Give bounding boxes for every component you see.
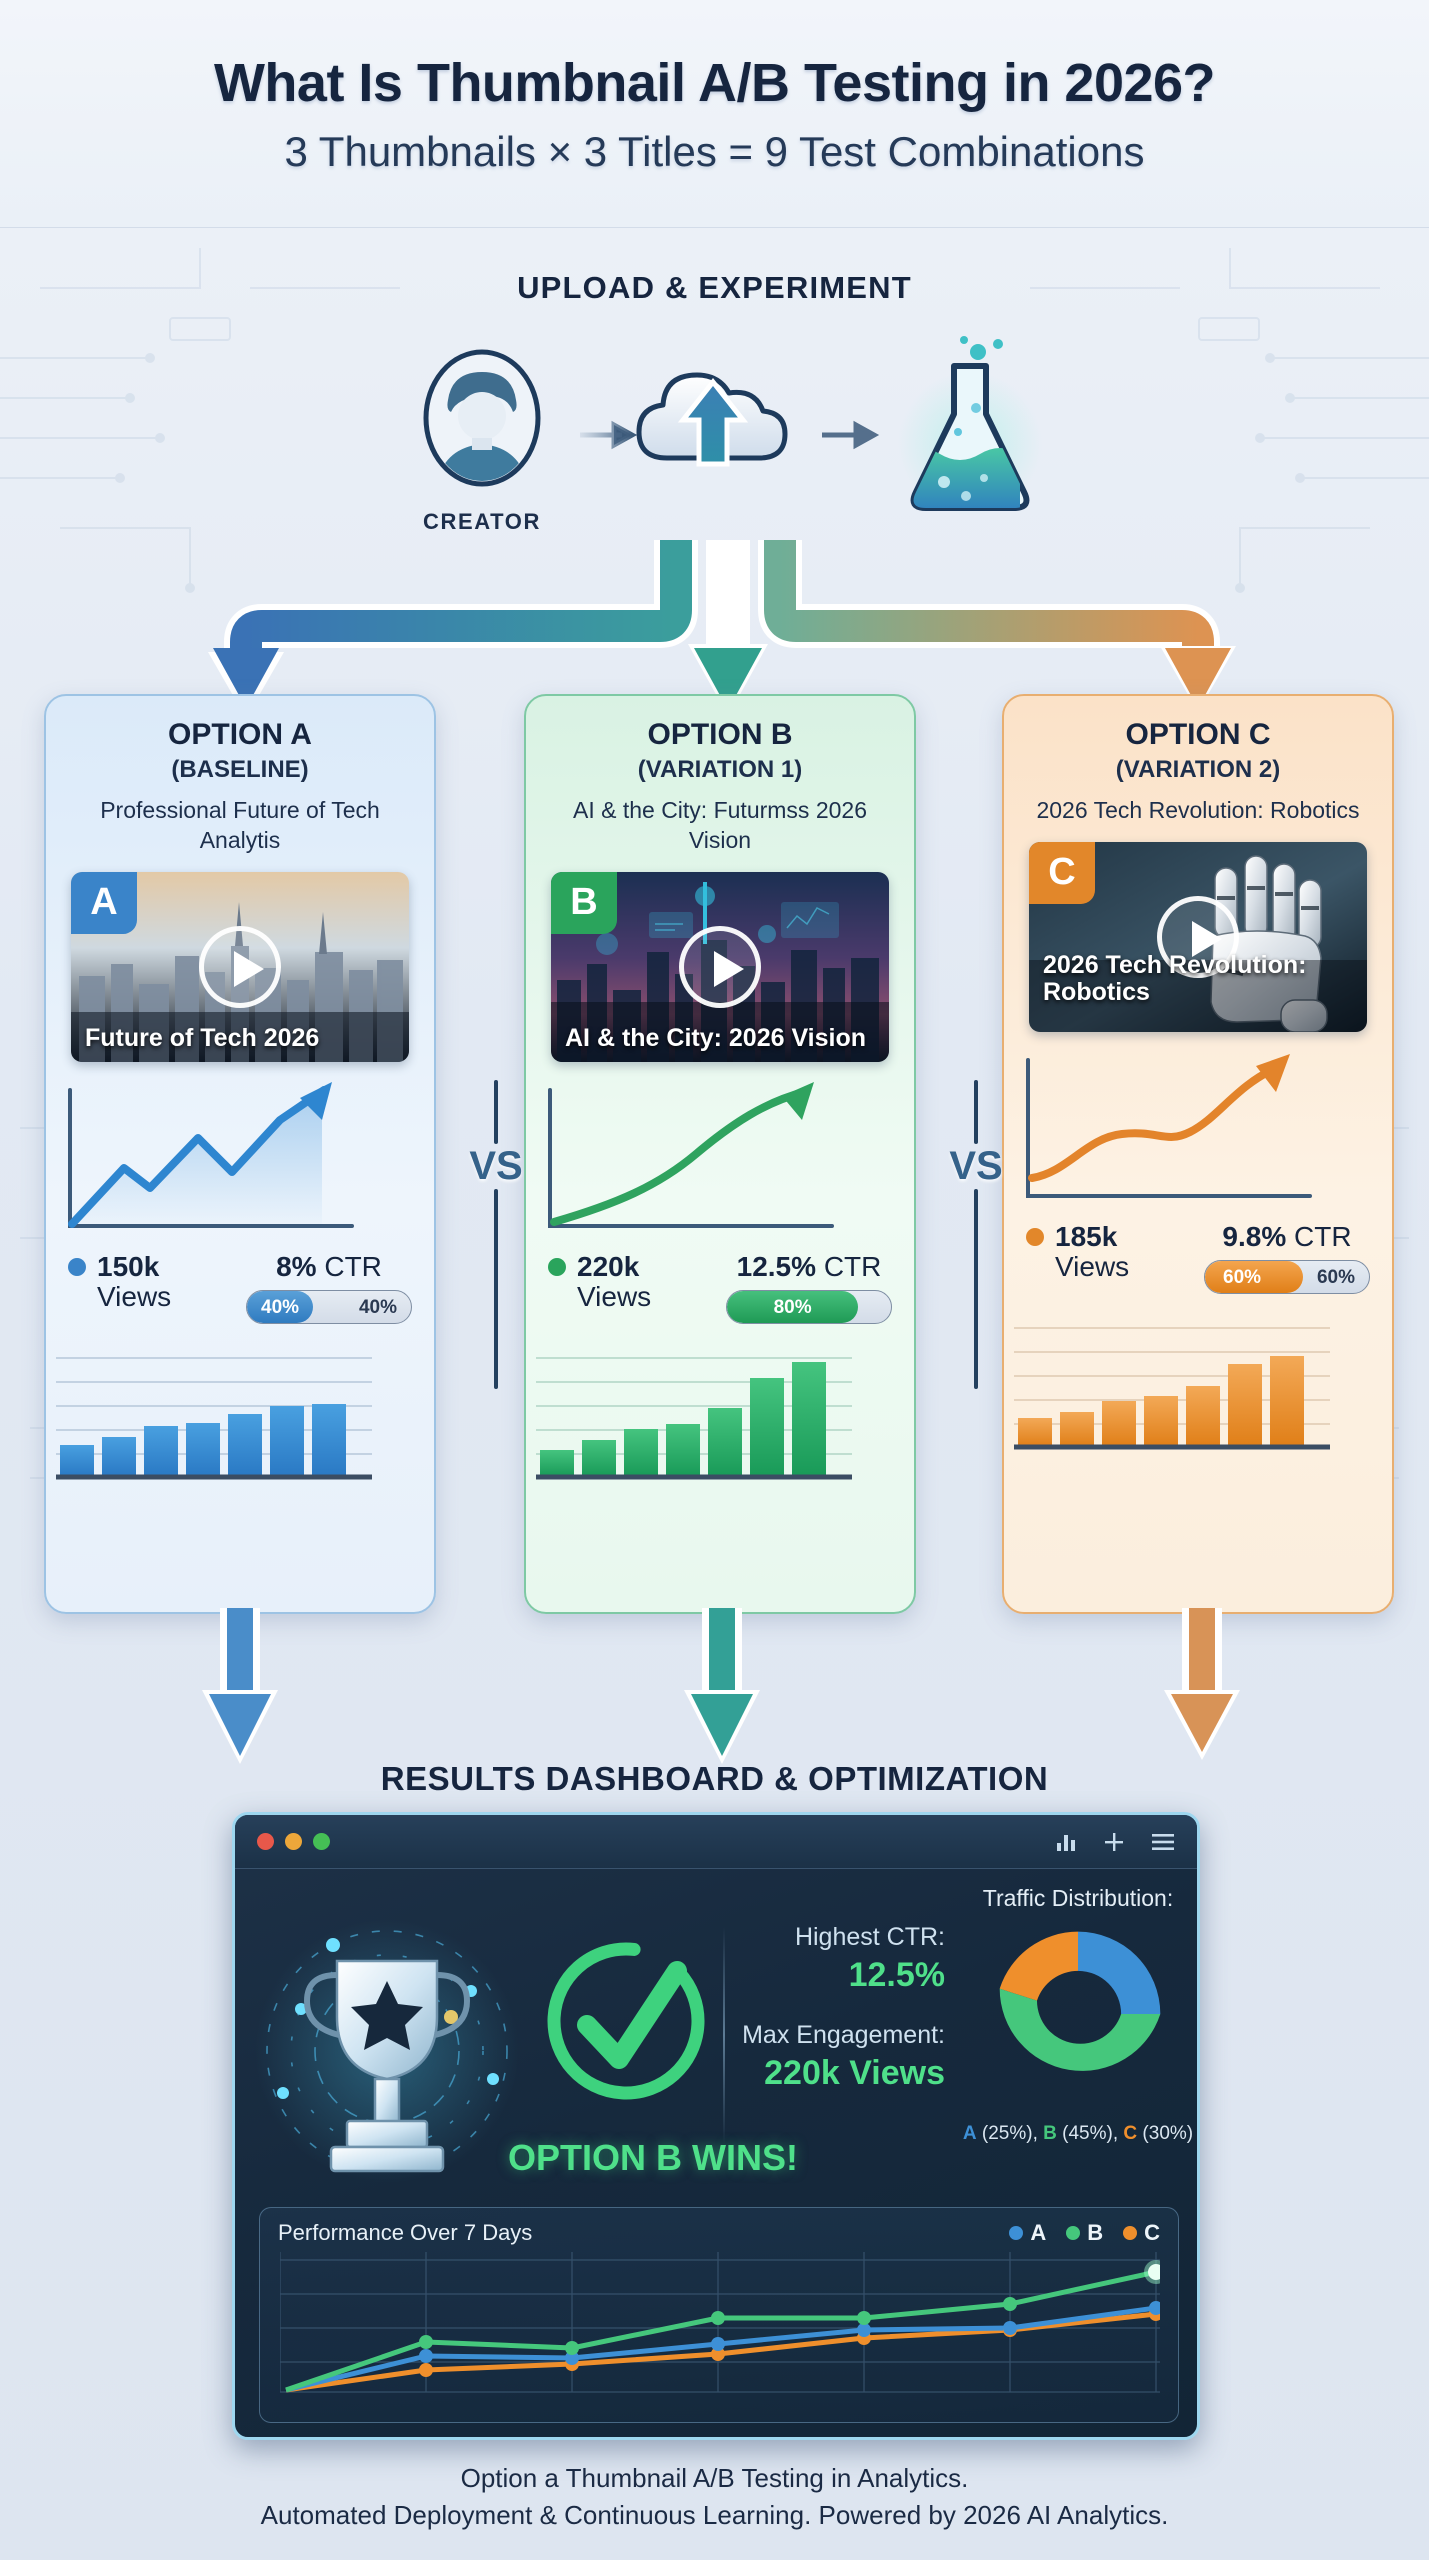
trophy-graphic [245,1883,535,2203]
option-a-stats: 150k Views 8% CTR 40% 40% [68,1251,418,1324]
legend-a-pct: (25%), [982,2123,1038,2144]
bar-chart-icon[interactable] [1055,1831,1077,1853]
option-b-stats: 220k Views 12.5% CTR 80% [548,1251,898,1324]
option-a-description: Professional Future of Tech Analytis [46,796,434,856]
option-a-badge: A [71,872,137,934]
option-a-bar-chart [46,1340,382,1490]
option-c-views-row: 185k [1026,1221,1198,1253]
option-a-progress-bar: 40% 40% [246,1290,412,1324]
cloud-upload-node [615,340,815,510]
option-c-trend-chart [1004,1046,1334,1210]
option-c-title: OPTION C [1004,718,1392,752]
option-a-trend-chart [46,1076,376,1240]
option-b-bar-chart [526,1340,862,1490]
option-cards-row: OPTION A (BASELINE) Professional Future … [0,694,1429,1614]
plus-icon[interactable] [1103,1831,1125,1853]
arrow-right-icon-2 [822,420,882,450]
traffic-distribution-donut [980,1916,1176,2112]
vs-separator-1: VS [436,1080,556,1389]
dashboard-kpis: Highest CTR: 12.5% Max Engagement: 220k … [735,1919,945,2119]
footer-line-2: Automated Deployment & Continuous Learni… [0,2497,1429,2534]
creator-label: CREATOR [392,509,572,535]
option-a-ctr-value: 8% [276,1251,316,1282]
down-arrows [0,1608,1429,1778]
dashboard-titlebar [235,1815,1197,1869]
option-b-title: OPTION B [526,718,914,752]
traffic-distribution-panel: Traffic Distribution: A (25%), B (45%), … [961,1885,1195,2145]
creator-icon [392,348,572,498]
legend-b-key: B [1043,2123,1057,2144]
option-c-stats: 185k Views 9.8% CTR 60% 60% [1026,1221,1376,1294]
option-c-subtitle: (VARIATION 2) [1004,756,1392,784]
page-subtitle: 3 Thumbnails × 3 Titles = 9 Test Combina… [285,128,1145,176]
option-b-views-value: 220k [577,1251,639,1283]
play-button-icon-a[interactable] [199,926,281,1008]
option-a-thumb-caption: Future of Tech 2026 [85,1025,399,1052]
option-c-ctr-label: CTR [1294,1221,1352,1252]
option-b-description: AI & the City: Futurmss 2026 Vision [526,796,914,856]
option-a-views-label: Views [68,1281,240,1313]
option-b-trend-chart [526,1076,856,1240]
perf-legend-a-dot-icon [1009,2226,1023,2240]
vs-label-2: VS [916,1144,1036,1189]
perf-legend-c: C [1123,2220,1160,2246]
option-c-ctr-row: 9.8% CTR [1198,1221,1376,1253]
legend-c-key: C [1123,2123,1137,2144]
flask-icon [880,336,1060,526]
option-card-a[interactable]: OPTION A (BASELINE) Professional Future … [44,694,436,1614]
option-b-subtitle: (VARIATION 1) [526,756,914,784]
option-c-views-value: 185k [1055,1221,1117,1253]
option-b-progress-inner-label: 80% [727,1291,858,1324]
legend-c-pct: (30%) [1142,2123,1193,2144]
option-a-ctr-row: 8% CTR [240,1251,418,1283]
option-a-progress-outer-label: 40% [359,1291,397,1324]
performance-chart-header: Performance Over 7 Days A B C [260,2208,1178,2246]
vs-label-1: VS [436,1144,556,1189]
max-engagement-value: 220k Views [735,2054,945,2093]
option-b-progress-bar: 80% [726,1290,892,1324]
results-dashboard-window[interactable]: OPTION B WINS! Highest CTR: 12.5% Max En… [232,1812,1200,2440]
option-b-ctr-value: 12.5% [737,1251,816,1282]
dashboard-toolbar[interactable] [1055,1831,1175,1853]
check-circle-icon [531,1921,721,2121]
footer-note: Option a Thumbnail A/B Testing in Analyt… [0,2460,1429,2534]
option-c-progress-inner-label: 60% [1223,1261,1261,1294]
perf-legend-b-dot-icon [1066,2226,1080,2240]
performance-chart-title: Performance Over 7 Days [278,2220,532,2246]
vs-separator-2: VS [916,1080,1036,1389]
page-header: What Is Thumbnail A/B Testing in 2026? 3… [0,0,1429,228]
option-a-ctr-label: CTR [324,1251,382,1282]
experiment-flask-node [880,336,1060,526]
option-c-description: 2026 Tech Revolution: Robotics [1004,796,1392,826]
max-engagement-label: Max Engagement: [735,2021,945,2050]
perf-legend-a: A [1009,2220,1046,2246]
infographic-page: What Is Thumbnail A/B Testing in 2026? 3… [0,0,1429,2560]
option-c-views-label: Views [1026,1251,1198,1283]
performance-chart-legend: A B C [1009,2220,1160,2246]
perf-legend-b: B [1066,2220,1103,2246]
option-c-bar-chart [1004,1310,1340,1460]
option-card-b[interactable]: OPTION B (VARIATION 1) AI & the City: Fu… [524,694,916,1614]
option-c-progress-bar: 60% 60% [1204,1260,1370,1294]
option-c-ctr-value: 9.8% [1222,1221,1286,1252]
page-title: What Is Thumbnail A/B Testing in 2026? [214,52,1215,114]
highest-ctr-value: 12.5% [735,1956,945,1995]
option-a-thumbnail[interactable]: A Future of Tech 2026 [71,872,409,1062]
option-b-thumbnail[interactable]: B AI & the City: 2026 Vision [551,872,889,1062]
flow-section-title: UPLOAD & EXPERIMENT [0,270,1429,306]
option-c-thumb-caption: 2026 Tech Revolution: Robotics [1043,952,1357,1006]
option-a-subtitle: (BASELINE) [46,756,434,784]
trophy-icon [245,1883,535,2203]
option-b-badge: B [551,872,617,934]
option-b-ctr-row: 12.5% CTR [720,1251,898,1283]
option-a-views-row: 150k [68,1251,240,1283]
option-c-thumbnail[interactable]: C 2026 Tech Revolution: Robotics [1029,842,1367,1032]
highest-ctr-label: Highest CTR: [735,1923,945,1952]
minimize-icon[interactable] [285,1833,302,1850]
option-a-title: OPTION A [46,718,434,752]
dashboard-body: OPTION B WINS! Highest CTR: 12.5% Max En… [235,1869,1197,2203]
option-b-ctr-label: CTR [824,1251,882,1282]
option-a-views-value: 150k [97,1251,159,1283]
performance-chart-panel: Performance Over 7 Days A B C [259,2207,1179,2423]
perf-legend-c-dot-icon [1123,2226,1137,2240]
option-a-progress-inner-label: 40% [261,1291,299,1324]
window-traffic-lights[interactable] [257,1833,330,1850]
option-b-thumb-caption: AI & the City: 2026 Vision [565,1025,879,1052]
dashboard-divider [723,1927,725,2143]
option-card-c[interactable]: OPTION C (VARIATION 2) 2026 Tech Revolut… [1002,694,1394,1614]
dashboard-section-title: RESULTS DASHBOARD & OPTIMIZATION [0,1760,1429,1798]
traffic-distribution-legend: A (25%), B (45%), C (30%) [961,2123,1195,2145]
legend-b-pct: (45%), [1062,2123,1118,2144]
success-check-graphic [531,1921,721,2121]
legend-a-key: A [963,2123,977,2144]
option-b-views-row: 220k [548,1251,720,1283]
cloud-upload-icon [615,340,815,510]
creator-node: CREATOR [392,348,572,535]
performance-line-chart [280,2252,1160,2400]
option-c-progress-outer-label: 60% [1317,1261,1355,1294]
footer-line-1: Option a Thumbnail A/B Testing in Analyt… [0,2460,1429,2497]
option-a-dot-icon [68,1258,86,1276]
close-icon[interactable] [257,1833,274,1850]
traffic-distribution-title: Traffic Distribution: [961,1885,1195,1912]
option-c-badge: C [1029,842,1095,904]
maximize-icon[interactable] [313,1833,330,1850]
winner-announcement: OPTION B WINS! [503,2137,803,2179]
option-b-views-label: Views [548,1281,720,1313]
menu-icon[interactable] [1151,1832,1175,1852]
play-button-icon-b[interactable] [679,926,761,1008]
